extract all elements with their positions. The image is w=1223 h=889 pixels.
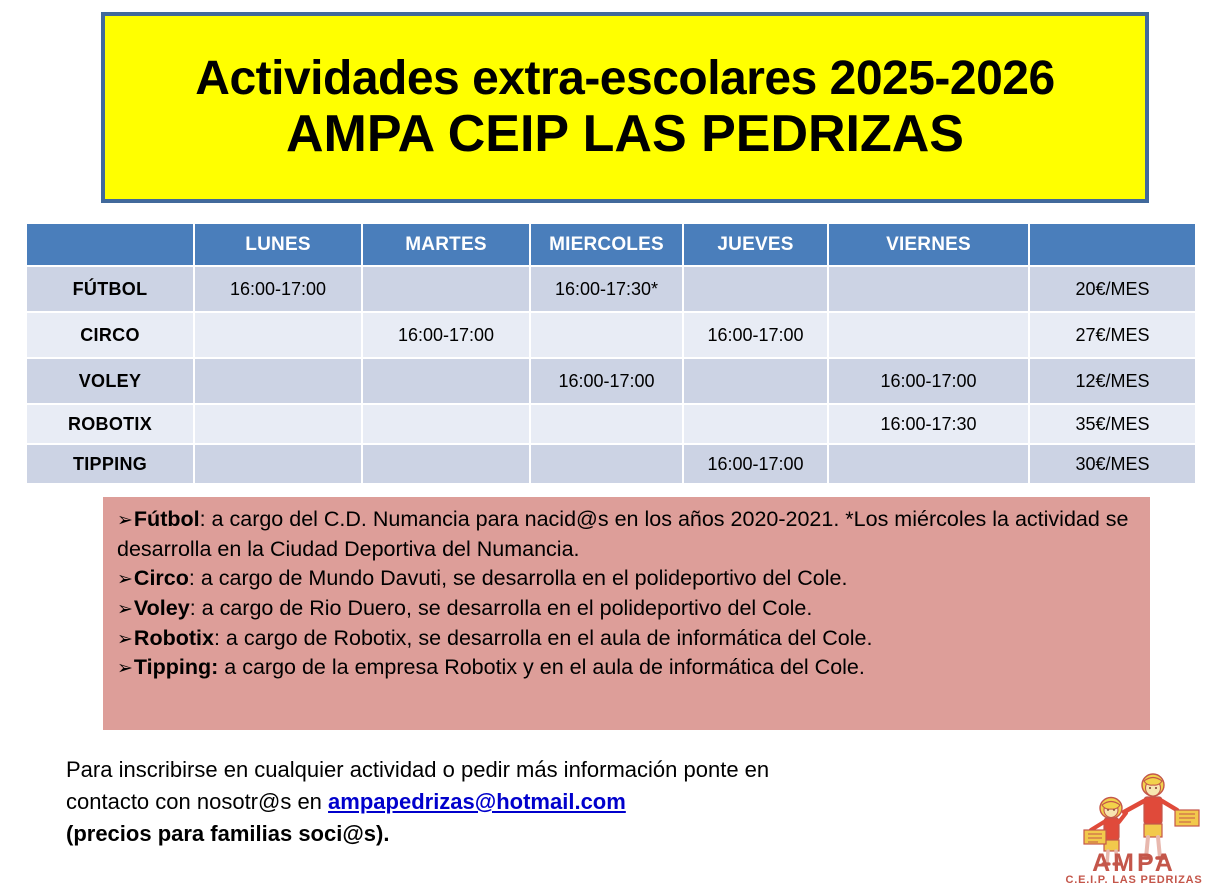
- table-row: ROBOTIX 16:00-17:30 35€/MES: [27, 405, 1195, 443]
- cell-voley-lunes: [195, 359, 361, 403]
- cell-tipping-martes: [363, 445, 529, 483]
- description-text-circo: a cargo de Mundo Davuti, se desarrolla e…: [195, 566, 848, 590]
- cell-tipping-viernes: [829, 445, 1028, 483]
- table-header-blank-left: [27, 224, 193, 265]
- descriptions-panel: ➢Fútbol: a cargo del C.D. Numancia para …: [103, 497, 1150, 730]
- description-term-voley: Voley: [134, 596, 190, 620]
- activity-name-robotix: ROBOTIX: [27, 405, 193, 443]
- cell-futbol-miercoles: 16:00-17:30*: [531, 267, 682, 311]
- table-header-lunes: LUNES: [195, 224, 361, 265]
- activity-name-tipping: TIPPING: [27, 445, 193, 483]
- cell-robotix-martes: [363, 405, 529, 443]
- cell-voley-martes: [363, 359, 529, 403]
- table-row: VOLEY 16:00-17:00 16:00-17:00 12€/MES: [27, 359, 1195, 403]
- cell-circo-jueves: 16:00-17:00: [684, 313, 827, 357]
- logo-word-ampa: AMPA: [1092, 849, 1176, 877]
- activity-name-circo: CIRCO: [27, 313, 193, 357]
- cell-robotix-viernes: 16:00-17:30: [829, 405, 1028, 443]
- cell-futbol-price: 20€/MES: [1030, 267, 1195, 311]
- cell-circo-martes: 16:00-17:00: [363, 313, 529, 357]
- cell-robotix-price: 35€/MES: [1030, 405, 1195, 443]
- description-text-robotix: a cargo de Robotix, se desarrolla en el …: [220, 626, 873, 650]
- contact-email-link[interactable]: ampapedrizas@hotmail.com: [328, 789, 626, 814]
- activity-name-voley: VOLEY: [27, 359, 193, 403]
- cell-voley-viernes: 16:00-17:00: [829, 359, 1028, 403]
- cell-voley-miercoles: 16:00-17:00: [531, 359, 682, 403]
- description-term-circo: Circo: [134, 566, 189, 590]
- table-header-jueves: JUEVES: [684, 224, 827, 265]
- activity-name-futbol: FÚTBOL: [27, 267, 193, 311]
- logo-adult-figure: [1124, 774, 1199, 858]
- description-term-tipping: Tipping:: [134, 655, 218, 679]
- ampa-logo: AMPA C.E.I.P. LAS PEDRIZAS: [1058, 772, 1210, 886]
- cell-circo-price: 27€/MES: [1030, 313, 1195, 357]
- cell-robotix-miercoles: [531, 405, 682, 443]
- description-item-robotix: ➢Robotix: a cargo de Robotix, se desarro…: [117, 624, 1136, 654]
- table-header-martes: MARTES: [363, 224, 529, 265]
- cell-voley-price: 12€/MES: [1030, 359, 1195, 403]
- cell-voley-jueves: [684, 359, 827, 403]
- cell-tipping-price: 30€/MES: [1030, 445, 1195, 483]
- cell-robotix-lunes: [195, 405, 361, 443]
- description-term-robotix: Robotix: [134, 626, 214, 650]
- cell-circo-lunes: [195, 313, 361, 357]
- ampa-logo-drawing: AMPA C.E.I.P. LAS PEDRIZAS: [1058, 772, 1210, 886]
- cell-circo-miercoles: [531, 313, 682, 357]
- table-header-viernes: VIERNES: [829, 224, 1028, 265]
- description-text-tipping: a cargo de la empresa Robotix y en el au…: [218, 655, 865, 679]
- cell-tipping-lunes: [195, 445, 361, 483]
- table-header-row: LUNES MARTES MIERCOLES JUEVES VIERNES: [27, 224, 1195, 265]
- table-row: CIRCO 16:00-17:00 16:00-17:00 27€/MES: [27, 313, 1195, 357]
- table-header-miercoles: MIERCOLES: [531, 224, 682, 265]
- table-row: TIPPING 16:00-17:00 30€/MES: [27, 445, 1195, 483]
- cell-futbol-viernes: [829, 267, 1028, 311]
- footer-line-2-prefix: contacto con nosotr@s en: [66, 789, 328, 814]
- page-title-line-1: Actividades extra-escolares 2025-2026: [195, 52, 1054, 106]
- footer-line-3: (precios para familias soci@s).: [66, 818, 1026, 850]
- footer-line-1: Para inscribirse en cualquier actividad …: [66, 754, 1026, 786]
- description-item-voley: ➢Voley: a cargo de Rio Duero, se desarro…: [117, 594, 1136, 624]
- arrow-bullet-icon: ➢: [117, 657, 133, 679]
- description-text-futbol: a cargo del C.D. Numancia para nacid@s e…: [117, 507, 1129, 561]
- cell-futbol-martes: [363, 267, 529, 311]
- table-row: FÚTBOL 16:00-17:00 16:00-17:30* 20€/MES: [27, 267, 1195, 311]
- arrow-bullet-icon: ➢: [117, 598, 133, 620]
- logo-subtitle: C.E.I.P. LAS PEDRIZAS: [1065, 874, 1202, 886]
- cell-robotix-jueves: [684, 405, 827, 443]
- cell-tipping-jueves: 16:00-17:00: [684, 445, 827, 483]
- cell-tipping-miercoles: [531, 445, 682, 483]
- description-term-futbol: Fútbol: [134, 507, 200, 531]
- schedule-table: LUNES MARTES MIERCOLES JUEVES VIERNES FÚ…: [25, 222, 1197, 485]
- page-title-line-2: AMPA CEIP LAS PEDRIZAS: [286, 105, 964, 163]
- footer-line-2: contacto con nosotr@s en ampapedrizas@ho…: [66, 786, 1026, 818]
- description-item-futbol: ➢Fútbol: a cargo del C.D. Numancia para …: [117, 505, 1136, 564]
- arrow-bullet-icon: ➢: [117, 628, 133, 650]
- table-header-price: [1030, 224, 1195, 265]
- description-text-voley: a cargo de Rio Duero, se desarrolla en e…: [196, 596, 813, 620]
- cell-futbol-lunes: 16:00-17:00: [195, 267, 361, 311]
- description-item-circo: ➢Circo: a cargo de Mundo Davuti, se desa…: [117, 564, 1136, 594]
- cell-circo-viernes: [829, 313, 1028, 357]
- title-banner: Actividades extra-escolares 2025-2026 AM…: [101, 12, 1149, 203]
- footer-contact-block: Para inscribirse en cualquier actividad …: [66, 754, 1026, 850]
- arrow-bullet-icon: ➢: [117, 509, 133, 531]
- cell-futbol-jueves: [684, 267, 827, 311]
- arrow-bullet-icon: ➢: [117, 568, 133, 590]
- description-item-tipping: ➢Tipping: a cargo de la empresa Robotix …: [117, 653, 1136, 683]
